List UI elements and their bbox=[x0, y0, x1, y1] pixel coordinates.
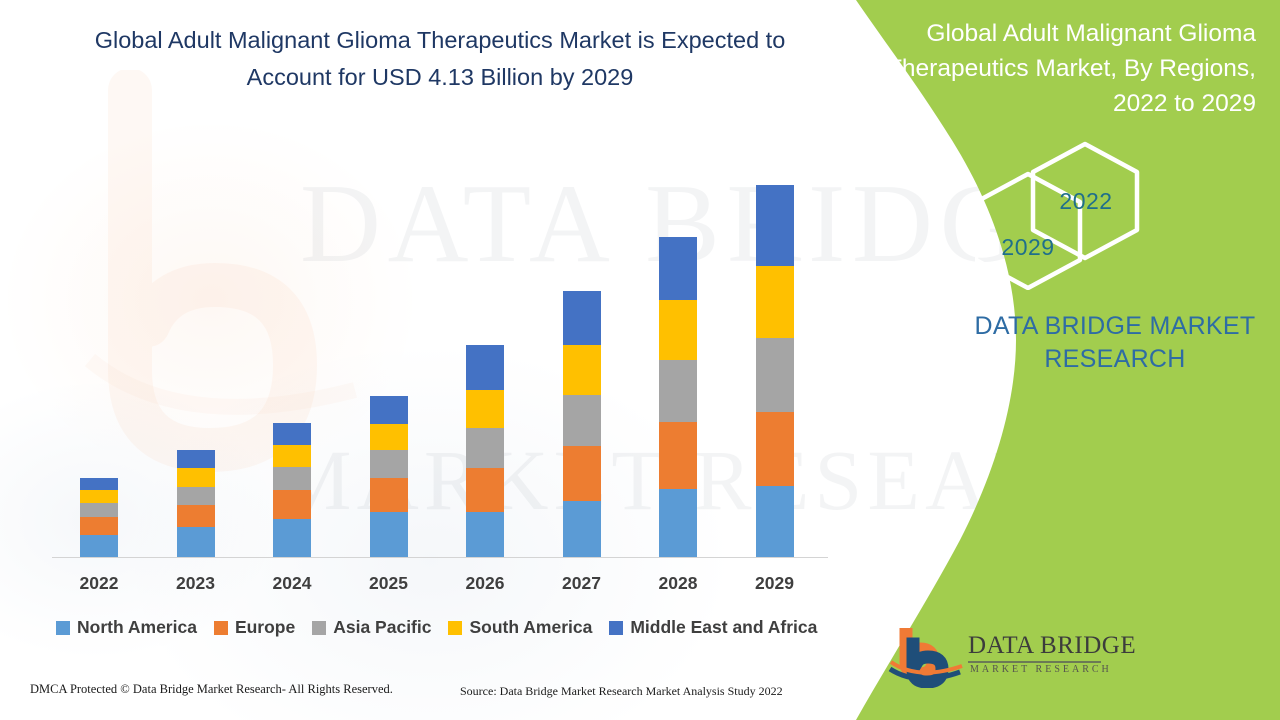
bar-segment-europe bbox=[370, 478, 408, 512]
brand-tagline: MARKET RESEARCH bbox=[970, 664, 1112, 675]
legend-swatch-icon bbox=[56, 621, 70, 635]
x-axis-label-2022: 2022 bbox=[59, 573, 139, 594]
x-axis-label-2029: 2029 bbox=[735, 573, 815, 594]
bar-2026 bbox=[466, 345, 504, 557]
bar-segment-middle-east-and-africa bbox=[659, 237, 697, 300]
x-axis-label-2028: 2028 bbox=[638, 573, 718, 594]
bar-segment-europe bbox=[563, 446, 601, 501]
x-axis-label-2027: 2027 bbox=[542, 573, 622, 594]
bar-segment-europe bbox=[80, 517, 118, 535]
bar-segment-north-america bbox=[273, 519, 311, 557]
bar-segment-middle-east-and-africa bbox=[466, 345, 504, 390]
bar-segment-north-america bbox=[177, 527, 215, 557]
legend-swatch-icon bbox=[214, 621, 228, 635]
bar-segment-south-america bbox=[370, 424, 408, 450]
bar-segment-asia-pacific bbox=[177, 487, 215, 505]
x-axis-label-2024: 2024 bbox=[252, 573, 332, 594]
bar-2029 bbox=[756, 185, 794, 557]
bar-segment-middle-east-and-africa bbox=[563, 291, 601, 345]
bar-segment-asia-pacific bbox=[756, 338, 794, 412]
x-axis-label-2026: 2026 bbox=[445, 573, 525, 594]
bar-segment-middle-east-and-africa bbox=[756, 185, 794, 266]
company-name: DATA BRIDGE MARKET RESEARCH bbox=[960, 310, 1270, 376]
bar-segment-north-america bbox=[80, 535, 118, 557]
infographic-canvas: DATA BRIDGE MARKET RESEARCH Global Adult… bbox=[0, 0, 1280, 720]
bar-segment-north-america bbox=[563, 501, 601, 557]
bar-segment-south-america bbox=[177, 468, 215, 487]
footer-source: Source: Data Bridge Market Research Mark… bbox=[460, 684, 783, 699]
bar-segment-north-america bbox=[659, 489, 697, 557]
bar-segment-asia-pacific bbox=[563, 395, 601, 446]
legend-item-north-america[interactable]: North America bbox=[56, 617, 197, 638]
bar-segment-europe bbox=[177, 505, 215, 527]
bar-segment-middle-east-and-africa bbox=[80, 478, 118, 490]
footer-copyright: DMCA Protected © Data Bridge Market Rese… bbox=[30, 682, 393, 697]
legend-label: Asia Pacific bbox=[333, 617, 431, 638]
x-axis-label-2025: 2025 bbox=[349, 573, 429, 594]
bar-segment-south-america bbox=[466, 390, 504, 428]
legend-swatch-icon bbox=[312, 621, 326, 635]
panel-title: Global Adult Malignant Glioma Therapeuti… bbox=[884, 16, 1256, 121]
bar-segment-south-america bbox=[756, 266, 794, 338]
bar-segment-middle-east-and-africa bbox=[273, 423, 311, 445]
bar-2028 bbox=[659, 237, 697, 557]
chart-legend: North AmericaEuropeAsia PacificSouth Ame… bbox=[56, 617, 817, 638]
bar-segment-asia-pacific bbox=[80, 503, 118, 517]
bar-segment-asia-pacific bbox=[466, 428, 504, 468]
bar-2022 bbox=[80, 478, 118, 557]
chart-axis-line bbox=[52, 557, 828, 558]
brand-name: DATA BRIDGE bbox=[968, 632, 1136, 660]
bar-segment-south-america bbox=[80, 490, 118, 503]
bar-segment-asia-pacific bbox=[273, 467, 311, 490]
legend-label: Europe bbox=[235, 617, 295, 638]
legend-label: South America bbox=[469, 617, 592, 638]
bar-segment-middle-east-and-africa bbox=[370, 396, 408, 424]
legend-swatch-icon bbox=[448, 621, 462, 635]
hexagon-2022-label: 2022 bbox=[1053, 188, 1119, 215]
x-axis-label-2023: 2023 bbox=[156, 573, 236, 594]
bar-segment-europe bbox=[273, 490, 311, 519]
legend-swatch-icon bbox=[609, 621, 623, 635]
bar-segment-europe bbox=[466, 468, 504, 512]
hexagon-badges: 2022 2029 bbox=[975, 140, 1175, 290]
bar-segment-south-america bbox=[273, 445, 311, 467]
bar-segment-europe bbox=[756, 412, 794, 486]
brand-logo: DATA BRIDGE MARKET RESEARCH bbox=[888, 628, 1118, 690]
bar-2024 bbox=[273, 423, 311, 557]
brand-divider bbox=[968, 661, 1101, 663]
bar-segment-south-america bbox=[563, 345, 601, 395]
stacked-bar-chart: 20222023202420252026202720282029 bbox=[0, 0, 860, 600]
bar-segment-europe bbox=[659, 422, 697, 489]
bar-segment-middle-east-and-africa bbox=[177, 450, 215, 468]
brand-mark-icon bbox=[888, 628, 966, 688]
legend-item-south-america[interactable]: South America bbox=[448, 617, 592, 638]
bar-2023 bbox=[177, 450, 215, 557]
bar-2027 bbox=[563, 291, 601, 557]
bar-segment-north-america bbox=[466, 512, 504, 557]
hexagon-2029-label: 2029 bbox=[995, 234, 1061, 261]
bar-segment-north-america bbox=[756, 486, 794, 557]
legend-label: Middle East and Africa bbox=[630, 617, 817, 638]
legend-label: North America bbox=[77, 617, 197, 638]
bar-segment-north-america bbox=[370, 512, 408, 557]
bar-segment-south-america bbox=[659, 300, 697, 360]
legend-item-asia-pacific[interactable]: Asia Pacific bbox=[312, 617, 431, 638]
bar-2025 bbox=[370, 396, 408, 557]
bar-segment-asia-pacific bbox=[370, 450, 408, 478]
legend-item-middle-east-and-africa[interactable]: Middle East and Africa bbox=[609, 617, 817, 638]
legend-item-europe[interactable]: Europe bbox=[214, 617, 295, 638]
bar-segment-asia-pacific bbox=[659, 360, 697, 422]
